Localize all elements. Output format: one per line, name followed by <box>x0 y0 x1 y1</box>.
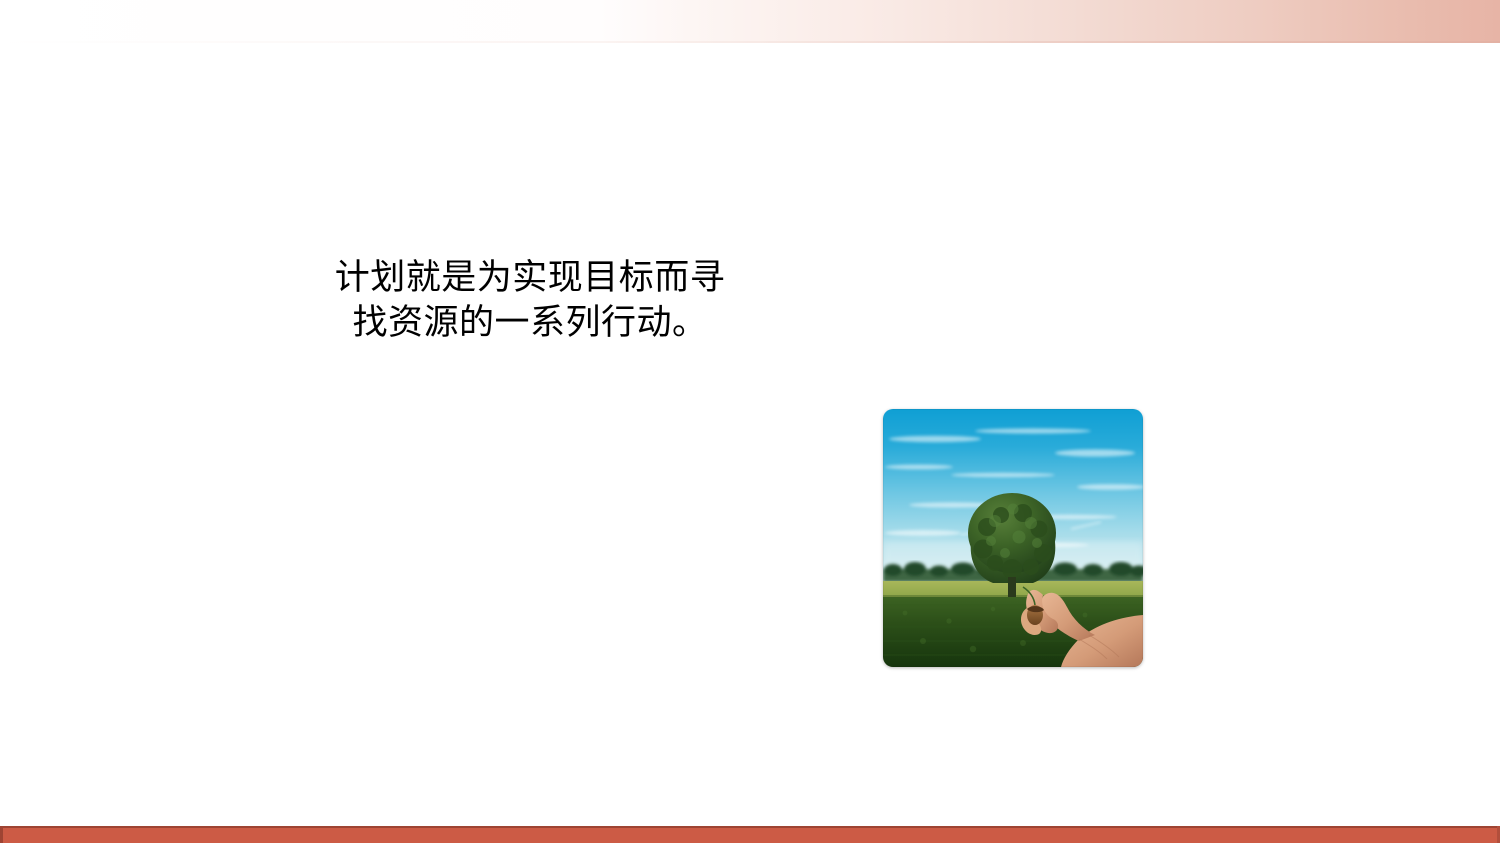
slide-canvas: 计划就是为实现目标而寻 找资源的一系列行动。 <box>0 0 1500 843</box>
slide-body-text: 计划就是为实现目标而寻 找资源的一系列行动。 <box>250 256 810 346</box>
photo-artwork <box>883 409 1143 667</box>
top-gradient-band <box>0 0 1500 43</box>
bottom-band-left-edge <box>0 826 3 843</box>
bottom-accent-band <box>0 826 1500 843</box>
tree-in-field-photo[interactable] <box>883 409 1143 667</box>
top-band-edge-line <box>0 41 1500 43</box>
